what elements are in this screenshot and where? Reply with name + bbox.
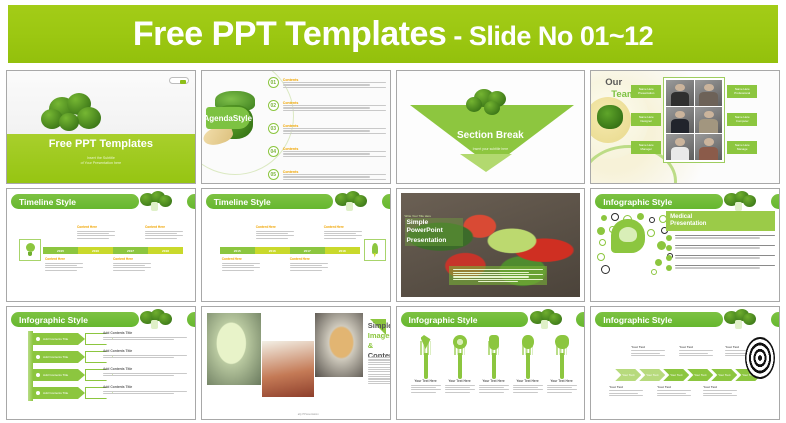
slide-header-pill: Infographic Style: [595, 194, 723, 209]
team-member-tag: Name Here Manage: [727, 141, 757, 154]
step-note: Your Text: [657, 385, 691, 396]
slide-header-pill: Infographic Style: [11, 312, 139, 327]
slide-header-pill-right: [187, 312, 196, 327]
slide-header-pill: Infographic Style: [595, 312, 723, 327]
slide07-body-box: [449, 266, 547, 285]
signpost-text-block: Add Contents Title: [103, 367, 187, 376]
slide10-title-line2: Images &: [368, 331, 391, 351]
signpost-text-block: Add Contents Title: [103, 331, 187, 340]
agenda-item[interactable]: 01 Contents: [268, 77, 386, 88]
agenda-item-text: Contents: [283, 169, 386, 180]
timeline-note-title: Content Here: [324, 225, 362, 229]
team-member-photo[interactable]: [666, 107, 693, 133]
slide-header-pill: Timeline Style: [206, 194, 334, 209]
timeline-note-title: Content Here: [256, 225, 294, 229]
agenda-item-list: 01 Contents 02 Contents 03 Contents: [268, 77, 386, 180]
timeline-note: Content Here: [77, 225, 115, 239]
signpost-text-title: Add Contents Title: [103, 367, 187, 371]
signpost-arrow[interactable]: Add Contents Title: [33, 387, 85, 399]
agenda-item-number: 04: [268, 146, 279, 157]
lime-fork-icon: [445, 337, 475, 379]
fork-column-title: Your Text Here: [411, 379, 441, 383]
team-member-photo[interactable]: [666, 134, 693, 160]
broccoli-photo: [464, 87, 512, 117]
drink-photo: [315, 313, 363, 377]
broccoli-photo: [41, 93, 101, 137]
agenda-item[interactable]: 04 Contents: [268, 146, 386, 157]
step-chevron[interactable]: Your Text: [711, 369, 737, 381]
signpost-text-block: Add Contents Title: [103, 385, 187, 394]
step-chevron-label: Your Text: [622, 373, 634, 377]
slide03-title: Section Break: [397, 130, 585, 141]
team-member-tag: Name Here Manager: [631, 141, 661, 154]
broccoli-icon: [139, 309, 173, 331]
slide-header-pill-right: [771, 312, 780, 327]
step-note-title: Your Text: [679, 345, 713, 349]
step-note-title: Your Text: [631, 345, 665, 349]
step-chevron[interactable]: Your Text: [687, 369, 713, 381]
slide05-title: Timeline Style: [19, 197, 76, 207]
slide-header-pill-right: [187, 194, 196, 209]
slide-thumbnail-01[interactable]: Free PPT Templates Insert the Subtitle o…: [6, 70, 196, 184]
slide07-title-block: Write Your Title Here Simple PowerPoint …: [405, 214, 463, 246]
slide-thumbnail-03[interactable]: Section Break Insert your subtitle here: [396, 70, 586, 184]
fork-column: Your Text Here: [445, 337, 475, 393]
broccoli-icon: [529, 309, 563, 331]
banner-title-sub: - Slide No 01~12: [446, 21, 653, 51]
pepper-fork-icon: [479, 337, 509, 379]
agenda-item-number: 02: [268, 100, 279, 111]
team-member-role: Professional: [734, 92, 750, 96]
team-title-line1: Our: [605, 77, 622, 88]
slide-thumbnail-10[interactable]: Simple Images & Contents ally PPresentat…: [201, 306, 391, 420]
timeline-year: 2016: [255, 247, 290, 254]
agenda-item[interactable]: 02 Contents: [268, 100, 386, 111]
signpost-text-block: Add Contents Title: [103, 349, 187, 358]
team-member-photo[interactable]: [695, 107, 722, 133]
fork-column-title: Your Text Here: [445, 379, 475, 383]
slide-thumbnail-11[interactable]: Infographic Style Your Text Here Your Te…: [396, 306, 586, 420]
team-member-tag: Name Here Designer: [631, 113, 661, 126]
slide-thumbnail-07[interactable]: Write Your Title Here Simple PowerPoint …: [396, 188, 586, 302]
banner-title-main: Free PPT Templates: [133, 15, 447, 53]
fork-column-title: Your Text Here: [547, 379, 577, 383]
step-note-title: Your Text: [609, 385, 643, 389]
signpost-arrow-label: Add Contents Title: [43, 391, 68, 395]
slide-header-pill: Infographic Style: [401, 312, 529, 327]
timeline-year: 2016: [78, 247, 113, 254]
slide-thumbnail-02[interactable]: Agenda Style 01 Contents 02 Contents 03: [201, 70, 391, 184]
rocket-icon: [364, 239, 386, 261]
timeline-note: Content Here: [113, 257, 151, 271]
timeline-year: 2018: [325, 247, 360, 254]
timeline-note-title: Content Here: [222, 257, 260, 261]
slide-thumbnail-12[interactable]: Infographic Style Your Text Your Text Yo…: [590, 306, 780, 420]
timeline-bar: 2015 2016 2017 2018: [43, 247, 183, 254]
team-member-role: Computer: [736, 120, 749, 124]
team-member-tag: Name Here Professional: [727, 85, 757, 98]
signpost-arrow[interactable]: Add Contents Title: [33, 333, 85, 345]
signpost-arrow[interactable]: Add Contents Title: [33, 369, 85, 381]
bullet-dot-icon: [666, 245, 672, 251]
step-note: Your Text: [631, 345, 665, 356]
slide10-body-text: [368, 357, 391, 384]
agenda-item-text: Contents: [283, 146, 386, 157]
team-member-tag: Name Here Computer: [727, 113, 757, 126]
slide06-title: Timeline Style: [214, 197, 271, 207]
slide01-title: Free PPT Templates: [7, 138, 195, 150]
fork-column-title: Your Text Here: [479, 379, 509, 383]
slide-header-pill-right: [576, 312, 585, 327]
broccoli-icon: [723, 309, 757, 331]
medical-title-line1: Medical: [670, 214, 771, 221]
slide-thumbnail-05[interactable]: Timeline Style 2015 2016 2017 2018 Conte…: [6, 188, 196, 302]
signpost-arrow-label: Add Contents Title: [43, 355, 68, 359]
slide-header-pill: Timeline Style: [11, 194, 139, 209]
timeline-year: 2018: [148, 247, 183, 254]
target-icon: [745, 337, 775, 379]
medical-bullet: [666, 245, 775, 251]
agenda-item-number: 05: [268, 169, 279, 180]
timeline-note: Content Here: [256, 225, 294, 239]
team-member-role: Presentation: [638, 92, 654, 96]
signpost-text-title: Add Contents Title: [103, 385, 187, 389]
slide-header-pill-right: [771, 194, 780, 209]
head-silhouette-icon: [611, 219, 645, 253]
team-member-tag: Name Here Presentation: [631, 85, 661, 98]
step-note-title: Your Text: [703, 385, 737, 389]
broccoli-fork-icon: [547, 337, 577, 379]
carrot-fork-icon: [411, 337, 441, 379]
fork-column: Your Text Here: [513, 337, 543, 393]
bullet-dot-icon: [666, 235, 672, 241]
slide12-title: Infographic Style: [603, 315, 672, 325]
fork-column: Your Text Here: [479, 337, 509, 393]
signpost-text-title: Add Contents Title: [103, 331, 187, 335]
slide07-title-line1: Simple PowerPoint: [405, 218, 463, 236]
fork-column: Your Text Here: [411, 337, 441, 393]
step-chevron[interactable]: Your Text: [663, 369, 689, 381]
slide-thumbnail-grid: Free PPT Templates Insert the Subtitle o…: [6, 70, 780, 420]
step-note: Your Text: [679, 345, 713, 356]
slide10-caption: ally PPresentation: [298, 413, 319, 416]
step-note: Your Text: [609, 385, 643, 396]
step-chevron-label: Your Text: [646, 373, 658, 377]
broccoli-icon: [139, 191, 173, 213]
broccoli-shape: [597, 105, 623, 129]
timeline-year: 2015: [43, 247, 78, 254]
page-banner: Free PPT Templates - Slide No 01~12: [8, 5, 778, 63]
team-member-role: Manager: [641, 148, 652, 152]
team-member-role: Designer: [640, 120, 652, 124]
agenda-item-text: Contents: [283, 123, 386, 134]
bellpepper-fork-icon: [513, 337, 543, 379]
agenda-item-text: Contents: [283, 77, 386, 88]
bullet-dot-icon: [666, 255, 672, 261]
slide-thumbnail-08[interactable]: Infographic Style: [590, 188, 780, 302]
medical-bullet: [666, 255, 775, 261]
agenda-title-line1: Agenda: [204, 114, 233, 123]
timeline-note-title: Content Here: [45, 257, 83, 261]
timeline-note-title: Content Here: [145, 225, 183, 229]
timeline-year: 2017: [290, 247, 325, 254]
section-break-triangle-shadow: [460, 154, 512, 172]
drink-photo: [262, 341, 314, 397]
step-chevron[interactable]: Your Text: [615, 369, 641, 381]
timeline-year: 2017: [113, 247, 148, 254]
slide10-title: Simple Images & Contents: [368, 321, 391, 361]
page-title: Free PPT Templates - Slide No 01~12: [133, 15, 653, 54]
timeline-note-title: Content Here: [113, 257, 151, 261]
drink-photo: [207, 313, 261, 385]
signpost-arrow[interactable]: Add Contents Title: [33, 351, 85, 363]
team-member-photo[interactable]: [666, 80, 693, 106]
team-member-photo[interactable]: [695, 80, 722, 106]
medical-bullet: [666, 235, 775, 241]
broccoli-icon: [723, 191, 757, 213]
medical-title-line2: Presentation: [670, 221, 771, 228]
fork-column: Your Text Here: [547, 337, 577, 393]
slide08-title: Infographic Style: [603, 197, 672, 207]
slide-header-pill-right: [382, 194, 391, 209]
medical-panel-title: Medical Presentation: [666, 211, 775, 231]
signpost-text-title: Add Contents Title: [103, 349, 187, 353]
step-chevron[interactable]: Your Text: [639, 369, 665, 381]
agenda-item-number: 03: [268, 123, 279, 134]
slide09-title: Infographic Style: [19, 315, 88, 325]
agenda-item[interactable]: 03 Contents: [268, 123, 386, 134]
logo-badge-icon: [169, 77, 189, 84]
agenda-item-number: 01: [268, 77, 279, 88]
timeline-note-title: Content Here: [77, 225, 115, 229]
step-note: Your Text: [703, 385, 737, 396]
slide-thumbnail-06[interactable]: Timeline Style 2015 2016 2017 2018 Conte…: [201, 188, 391, 302]
slide-thumbnail-09[interactable]: Infographic Style Add Contents Title Add…: [6, 306, 196, 420]
broccoli-icon: [334, 191, 368, 213]
slide-thumbnail-04[interactable]: Our Team Name Here Presentation Name Her…: [590, 70, 780, 184]
bullet-dot-icon: [666, 265, 672, 271]
timeline-note: Content Here: [45, 257, 83, 271]
agenda-title-pill: Agenda Style: [206, 107, 250, 129]
signpost-pole: [28, 331, 33, 401]
timeline-note: Content Here: [290, 257, 328, 271]
timeline-note: Content Here: [222, 257, 260, 271]
timeline-note: Content Here: [324, 225, 362, 239]
step-chevron-label: Your Text: [670, 373, 682, 377]
slide03-subtitle: Insert your subtitle here: [397, 147, 585, 151]
team-member-role: Manage: [737, 148, 747, 152]
team-member-photo[interactable]: [695, 134, 722, 160]
signpost-arrow-label: Add Contents Title: [43, 337, 68, 341]
timeline-year: 2015: [220, 247, 255, 254]
slide01-subtitle-line2: of Your Presentation here: [7, 161, 195, 166]
slide01-subtitle: Insert the Subtitle of Your Presentation…: [7, 156, 195, 166]
timeline-note-title: Content Here: [290, 257, 328, 261]
slide11-title: Infographic Style: [409, 315, 478, 325]
fork-column-title: Your Text Here: [513, 379, 543, 383]
lightbulb-icon: [19, 239, 41, 261]
slide07-title-line2: Presentation: [405, 236, 463, 246]
medical-panel: Medical Presentation: [666, 211, 775, 271]
agenda-item-text: Contents: [283, 100, 386, 111]
agenda-item[interactable]: 05 Contents: [268, 169, 386, 180]
timeline-bar: 2015 2016 2017 2018: [220, 247, 360, 254]
medical-bullet: [666, 265, 775, 271]
slide10-title-line1: Simple: [368, 321, 391, 331]
step-chevron-label: Your Text: [694, 373, 706, 377]
step-chevron-label: Your Text: [718, 373, 730, 377]
signpost-arrow-label: Add Contents Title: [43, 373, 68, 377]
agenda-title-line2: Style: [233, 114, 252, 123]
team-photo-gallery: [663, 77, 725, 163]
timeline-note: Content Here: [145, 225, 183, 239]
step-note-title: Your Text: [657, 385, 691, 389]
